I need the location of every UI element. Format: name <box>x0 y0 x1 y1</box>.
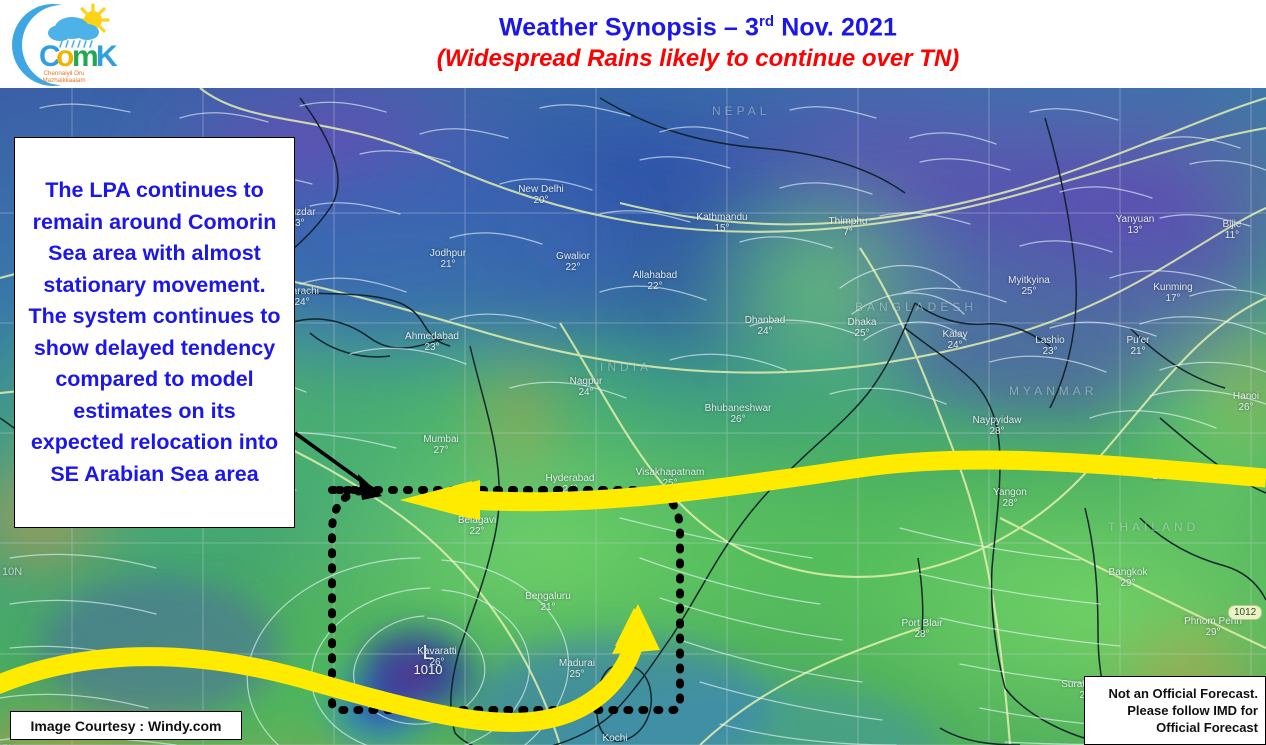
title-suffix: Nov. 2021 <box>774 13 897 41</box>
isobar-label: 1012 <box>1228 605 1262 620</box>
page-title: Weather Synopsis – 3rd Nov. 2021 <box>130 6 1266 43</box>
low-pressure-marker: L 1010 <box>398 644 458 677</box>
title-ordinal-suffix: rd <box>759 13 774 30</box>
svg-text:K: K <box>96 40 118 73</box>
disclaimer-line-1: Not an Official Forecast. <box>1108 685 1258 702</box>
page-subtitle: (Widespread Rains likely to continue ove… <box>130 44 1266 74</box>
country-label: BANGLADESH <box>855 300 977 314</box>
comk-logo-graphic: C o m K Chennaiyil Oru Mazhaikkaalam <box>6 2 124 88</box>
disclaimer-box: Not an Official Forecast. Please follow … <box>1084 676 1266 745</box>
title-prefix: Weather Synopsis – 3 <box>499 13 759 41</box>
country-label: NEPAL <box>712 104 770 118</box>
low-pressure-value: 1010 <box>398 662 458 677</box>
low-pressure-symbol: L <box>398 644 458 662</box>
svg-text:m: m <box>72 40 99 73</box>
image-courtesy-label: Image Courtesy : Windy.com <box>31 718 222 734</box>
title-block: Weather Synopsis – 3rd Nov. 2021 (Widesp… <box>130 6 1266 74</box>
country-label: THAILAND <box>1108 520 1199 534</box>
disclaimer-line-3: Official Forecast <box>1156 719 1258 736</box>
weather-synopsis-page: C o m K Chennaiyil Oru Mazhaikkaalam Wea… <box>0 0 1266 745</box>
page-header: C o m K Chennaiyil Oru Mazhaikkaalam Wea… <box>0 0 1266 88</box>
country-label: MYANMAR <box>1009 384 1097 398</box>
country-label: INDIA <box>600 360 652 374</box>
comk-logo: C o m K Chennaiyil Oru Mazhaikkaalam <box>6 2 124 88</box>
logo-tagline-line1: Chennaiyil Oru <box>44 70 85 77</box>
image-courtesy-box: Image Courtesy : Windy.com <box>10 711 242 740</box>
logo-tagline-line2: Mazhaikkaalam <box>43 77 86 84</box>
lpa-callout-box: The LPA continues to remain around Comor… <box>14 137 295 528</box>
disclaimer-line-2: Please follow IMD for <box>1127 702 1258 719</box>
latitude-label: 10N <box>2 566 22 578</box>
lpa-callout-text: The LPA continues to remain around Comor… <box>25 175 284 490</box>
